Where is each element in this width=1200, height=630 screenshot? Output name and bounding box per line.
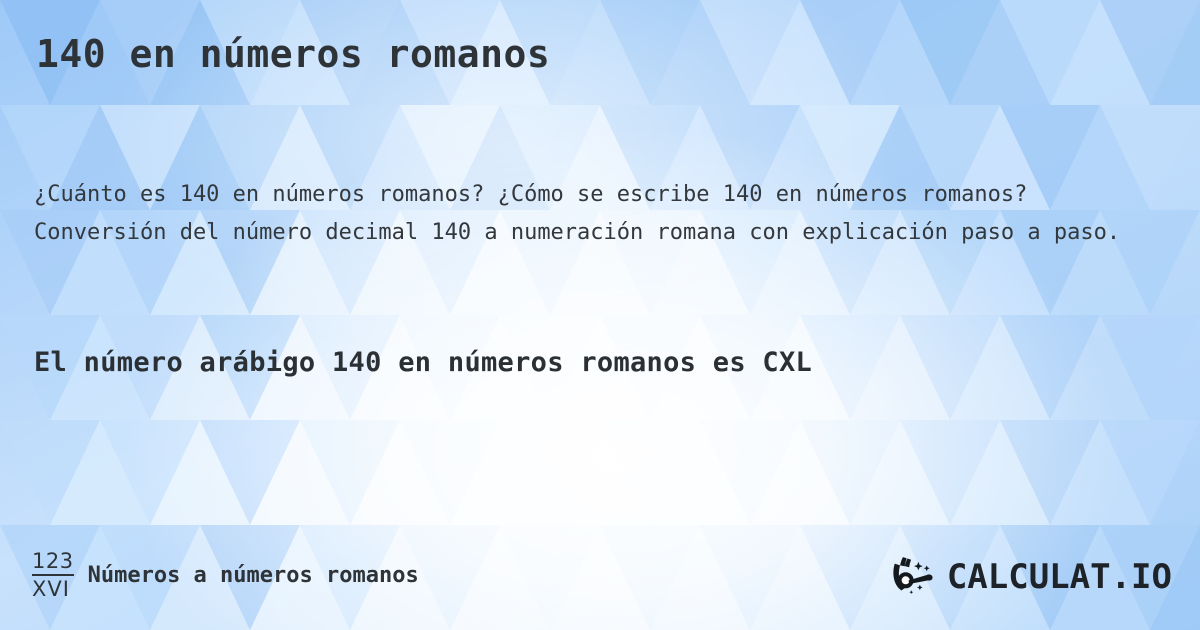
calculatio-brand: CALCULAT.IO [889,556,1172,598]
logo-roman-part: XVI [32,576,70,600]
brand-wordmark: CALCULAT.IO [947,560,1172,594]
numbers-to-roman-logo-icon: 123 XVI [32,551,74,600]
page-title: 140 en números romanos [36,32,550,76]
logo-arabic-part: 123 [32,551,74,576]
card-footer: 123 XVI Números a números romanos [0,526,1200,630]
site-label: Números a números romanos [88,563,419,588]
share-card: 140 en números romanos ¿Cuánto es 140 en… [0,0,1200,630]
conversion-result: El número arábigo 140 en números romanos… [34,347,1174,378]
site-branding: 123 XVI Números a números romanos [32,551,419,600]
hand-magic-wand-icon [889,556,941,598]
page-description: ¿Cuánto es 140 en números romanos? ¿Cómo… [34,176,1164,252]
card-content: 140 en números romanos ¿Cuánto es 140 en… [0,0,1200,630]
